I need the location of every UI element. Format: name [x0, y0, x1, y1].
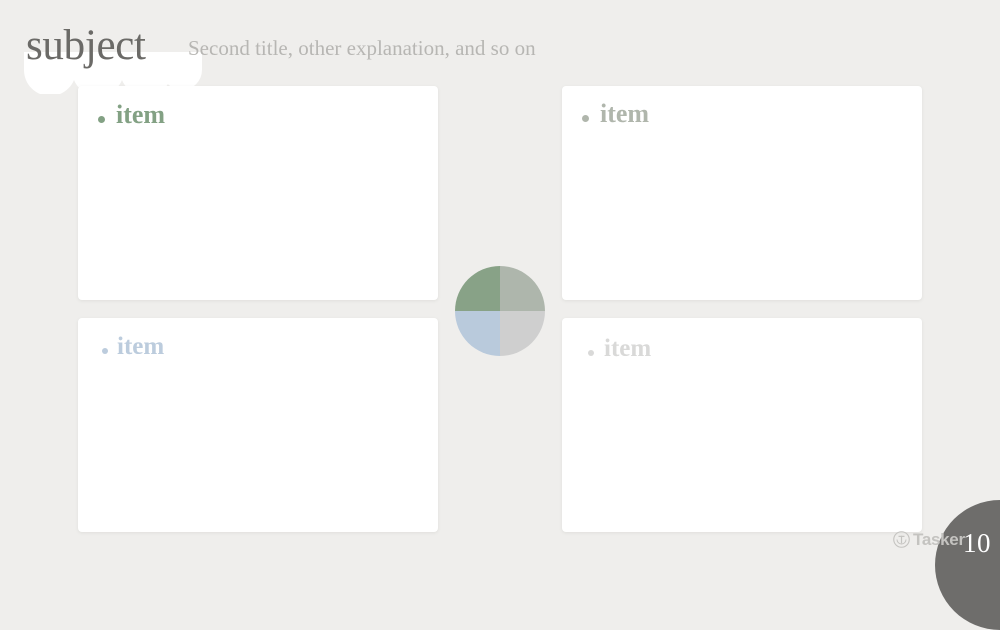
bullet-icon [582, 115, 589, 122]
card-item-bottom-right: item [588, 335, 651, 363]
pie-slice-top-left [455, 266, 500, 311]
bullet-icon [98, 116, 105, 123]
brand-logo: Tasker [893, 528, 965, 550]
card-item-label: item [117, 333, 164, 361]
content-card-bottom-right[interactable]: item [562, 318, 922, 532]
pie-slice-top-right [500, 266, 545, 311]
card-item-label: item [604, 335, 651, 363]
page-title: subject [26, 22, 146, 70]
slide-canvas: subject Second title, other explanation,… [0, 0, 1000, 562]
content-card-top-right[interactable]: item [562, 86, 922, 300]
bullet-icon [102, 348, 108, 354]
title-block: subject [26, 22, 146, 78]
content-card-top-left[interactable]: item [78, 86, 438, 300]
brand-name: Tasker [913, 531, 965, 548]
pie-slice-bottom-right [500, 311, 545, 356]
pie-slice-bottom-left [455, 311, 500, 356]
page-number-badge [935, 500, 1000, 630]
card-item-label: item [600, 99, 649, 129]
tasker-circle-logo-icon [893, 531, 910, 548]
page-number: 10 [963, 530, 991, 557]
slide-header: subject Second title, other explanation,… [0, 0, 1000, 86]
card-item-bottom-left: item [102, 333, 164, 361]
page-subtitle: Second title, other explanation, and so … [188, 34, 536, 62]
card-item-top-left: item [98, 100, 165, 130]
quadrant-pie-chart [455, 266, 545, 356]
card-item-top-right: item [582, 99, 649, 129]
card-item-label: item [116, 100, 165, 130]
content-card-bottom-left[interactable]: item [78, 318, 438, 532]
bullet-icon [588, 350, 594, 356]
